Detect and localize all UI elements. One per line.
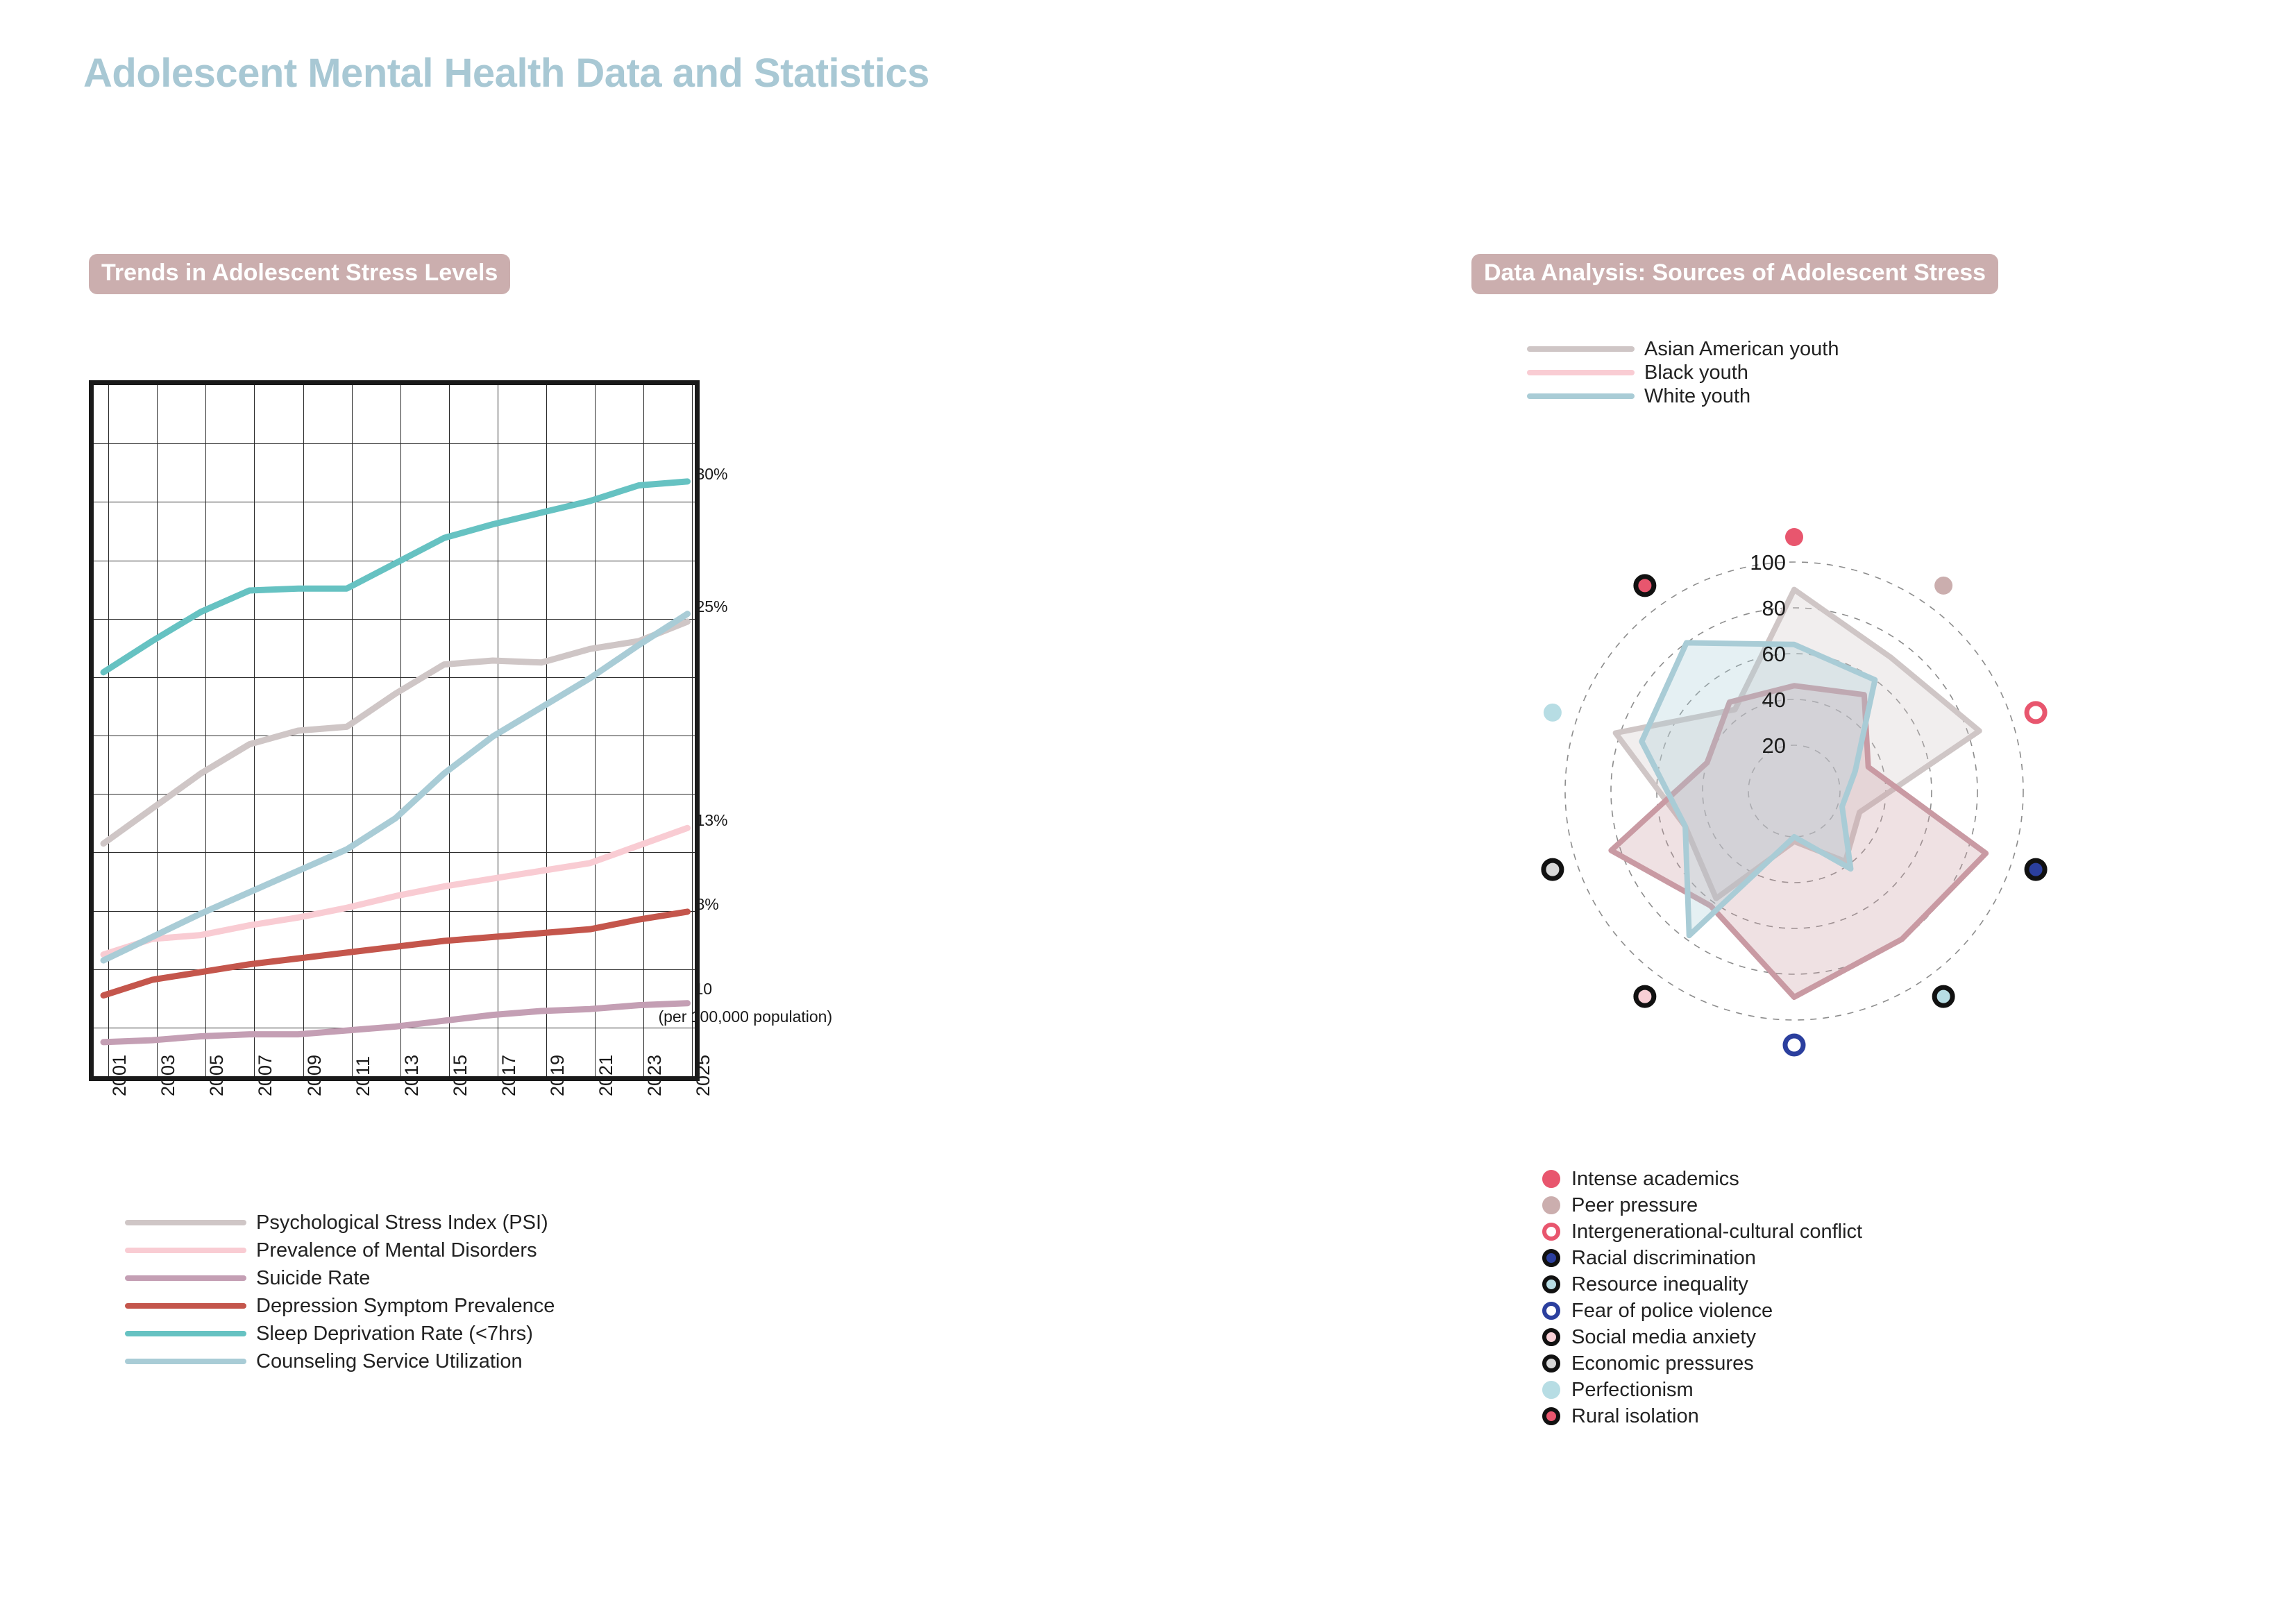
x-axis-tick: 2019 — [547, 1055, 568, 1096]
x-axis-tick: 2003 — [158, 1055, 179, 1096]
x-axis-tick: 2001 — [109, 1055, 130, 1096]
line-end-label: 10 — [694, 980, 712, 999]
legend-swatch — [125, 1275, 246, 1281]
legend-item: Prevalence of Mental Disorders — [125, 1237, 555, 1264]
legend-label: Prevalence of Mental Disorders — [256, 1239, 537, 1262]
line-series-3 — [103, 912, 687, 996]
line-chart-series — [89, 380, 700, 1081]
x-axis-tick: 2009 — [304, 1055, 326, 1096]
x-axis-tick: 2025 — [693, 1055, 714, 1096]
x-axis-tick: 2023 — [644, 1055, 666, 1096]
section-header-trends: Trends in Adolescent Stress Levels — [89, 254, 510, 294]
legend-swatch — [125, 1303, 246, 1309]
legend-item: Counseling Service Utilization — [125, 1348, 555, 1375]
legend-label: Psychological Stress Index (PSI) — [256, 1212, 548, 1234]
legend-item: Depression Symptom Prevalence — [125, 1292, 555, 1320]
x-axis-tick: 2013 — [401, 1055, 423, 1096]
legend-swatch — [125, 1331, 246, 1336]
panel-systemic-neglect: Systemic Neglect: Gaps in School and Soc… — [1437, 0, 2296, 1623]
line-chart-legend: Psychological Stress Index (PSI)Prevalen… — [125, 1209, 555, 1375]
line-series-1 — [103, 828, 687, 954]
line-series-2 — [103, 1003, 687, 1042]
x-axis-tick: 2011 — [353, 1056, 374, 1096]
panel-sources: Data Analysis: Sources of Adolescent Str… — [715, 0, 1437, 1623]
legend-swatch — [125, 1220, 246, 1225]
legend-label: Sleep Deprivation Rate (<7hrs) — [256, 1323, 533, 1345]
legend-label: Suicide Rate — [256, 1267, 370, 1290]
legend-label: Depression Symptom Prevalence — [256, 1295, 555, 1318]
legend-swatch — [125, 1248, 246, 1253]
legend-item: Sleep Deprivation Rate (<7hrs) — [125, 1320, 555, 1348]
legend-label: Counseling Service Utilization — [256, 1350, 523, 1373]
x-axis-tick: 2021 — [596, 1055, 617, 1096]
legend-item: Psychological Stress Index (PSI) — [125, 1209, 555, 1237]
x-axis-tick: 2007 — [255, 1055, 276, 1096]
legend-item: Suicide Rate — [125, 1264, 555, 1292]
x-axis-tick: 2017 — [498, 1055, 520, 1096]
x-axis-tick: 2015 — [450, 1055, 471, 1096]
line-series-5 — [103, 614, 687, 960]
line-series-4 — [103, 482, 687, 672]
line-series-0 — [103, 622, 687, 844]
legend-swatch — [125, 1359, 246, 1364]
panel-trends: Trends in Adolescent Stress Levels 20012… — [0, 0, 715, 1623]
x-axis-tick: 2005 — [206, 1055, 228, 1096]
